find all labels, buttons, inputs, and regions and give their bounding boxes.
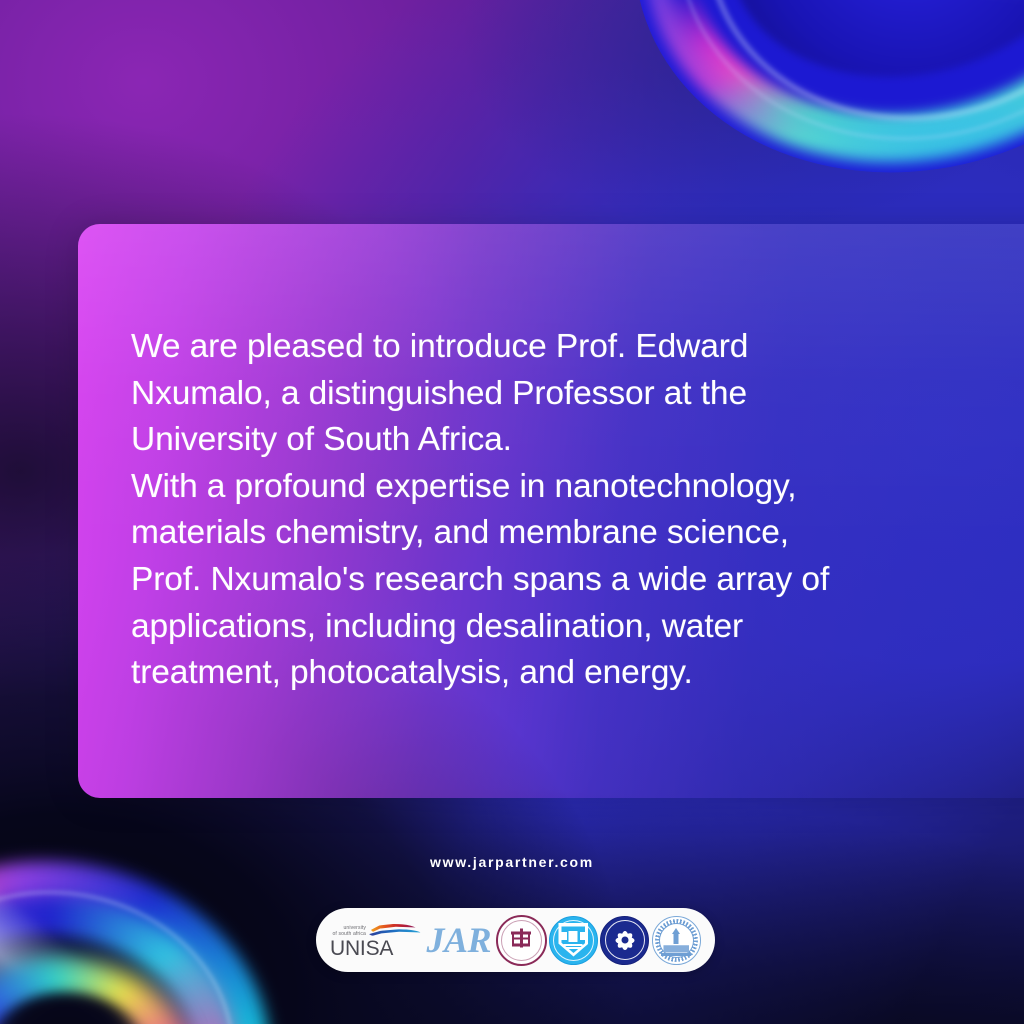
paragraph-line: materials chemistry, and membrane scienc… bbox=[131, 510, 931, 557]
paragraph-line: applications, including desalination, wa… bbox=[131, 604, 931, 651]
paragraph-line: Nxumalo, a distinguished Professor at th… bbox=[131, 371, 931, 418]
paragraph-line: With a profound expertise in nanotechnol… bbox=[131, 464, 931, 511]
paragraph-line: treatment, photocatalysis, and energy. bbox=[131, 650, 931, 697]
card-paragraph: We are pleased to introduce Prof. Edward… bbox=[131, 324, 931, 697]
unisa-wordmark: UNISA bbox=[330, 938, 424, 960]
website-url[interactable]: www.jarpartner.com bbox=[0, 854, 1024, 870]
partner-logo-bar: university of south africa UNISA JAR bbox=[316, 908, 715, 972]
navy-flower-university-seal-icon bbox=[600, 916, 649, 965]
unisa-logo: university of south africa UNISA bbox=[330, 921, 424, 960]
gear-building-university-seal-icon bbox=[652, 916, 701, 965]
unisa-tagline: university of south africa bbox=[330, 925, 366, 937]
unisa-tagline-line1: university bbox=[343, 925, 366, 931]
paragraph-line: Prof. Nxumalo's research spans a wide ar… bbox=[131, 557, 931, 604]
social-card-canvas: We are pleased to introduce Prof. Edward… bbox=[0, 0, 1024, 1024]
paragraph-line: University of South Africa. bbox=[131, 417, 931, 464]
jar-wordmark-logo: JAR bbox=[426, 920, 491, 960]
blue-shield-university-seal-icon bbox=[549, 916, 598, 965]
unisa-swoosh-icon bbox=[369, 923, 421, 938]
content-card: We are pleased to introduce Prof. Edward… bbox=[78, 224, 1024, 798]
tiangong-university-seal-icon bbox=[496, 915, 547, 966]
paragraph-line: We are pleased to introduce Prof. Edward bbox=[131, 324, 931, 371]
